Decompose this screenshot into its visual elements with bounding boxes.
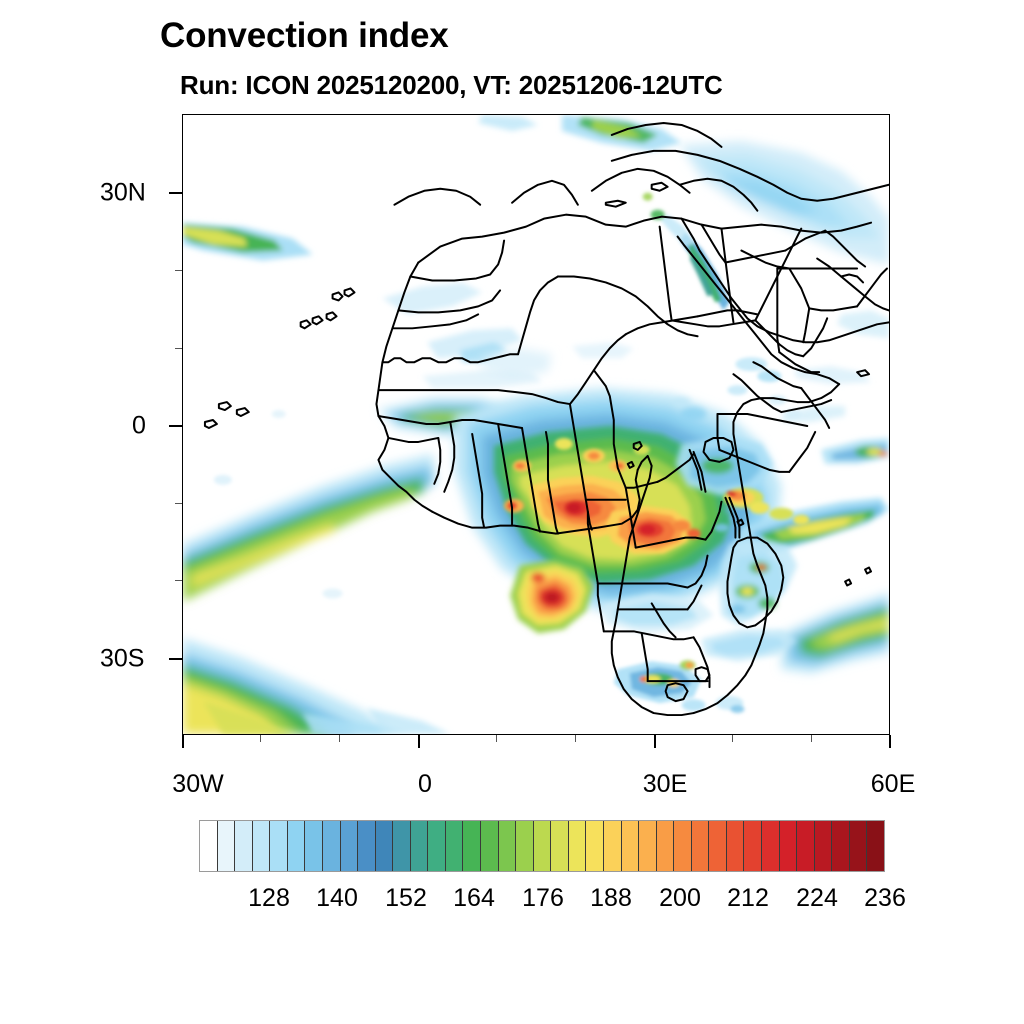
- colorbar-label: 164: [453, 884, 495, 913]
- y-tick-minor: [175, 270, 182, 271]
- colorbar-cell-5: [288, 821, 306, 871]
- colorbar-label: 188: [590, 884, 632, 913]
- colorbar[interactable]: [199, 820, 885, 872]
- colorbar-cell-1: [218, 821, 236, 871]
- colorbar-cell-20: [551, 821, 569, 871]
- colorbar-cell-25: [639, 821, 657, 871]
- colorbar-cell-38: [867, 821, 884, 871]
- colorbar-cell-10: [376, 821, 394, 871]
- x-axis-label-0: 0: [418, 770, 432, 799]
- x-tick-minor: [811, 735, 812, 742]
- x-tick-minor: [339, 735, 340, 742]
- colorbar-cell-2: [235, 821, 253, 871]
- colorbar-cell-8: [341, 821, 359, 871]
- colorbar-cell-32: [762, 821, 780, 871]
- colorbar-label: 224: [796, 884, 838, 913]
- colorbar-cell-37: [850, 821, 868, 871]
- colorbar-label: 128: [248, 884, 290, 913]
- colorbar-cell-34: [797, 821, 815, 871]
- x-axis-label-30e: 30E: [643, 770, 687, 799]
- colorbar-label: 200: [659, 884, 701, 913]
- colorbar-cell-36: [832, 821, 850, 871]
- page-title: Convection index: [160, 16, 449, 56]
- colorbar-cell-30: [727, 821, 745, 871]
- convection-index-map: [183, 115, 889, 734]
- colorbar-cell-27: [674, 821, 692, 871]
- colorbar-cell-12: [411, 821, 429, 871]
- y-tick-major: [169, 192, 182, 194]
- colorbar-cell-22: [586, 821, 604, 871]
- x-tick-minor: [496, 735, 497, 742]
- colorbar-cell-17: [499, 821, 517, 871]
- colorbar-cell-6: [305, 821, 323, 871]
- colorbar-cell-18: [516, 821, 534, 871]
- colorbar-label: 236: [864, 884, 906, 913]
- y-tick-minor: [175, 580, 182, 581]
- colorbar-cell-9: [358, 821, 376, 871]
- colorbar-cell-4: [270, 821, 288, 871]
- colorbar-cell-15: [463, 821, 481, 871]
- x-axis-label-30w: 30W: [172, 770, 223, 799]
- colorbar-cell-35: [815, 821, 833, 871]
- y-axis-label-0: 0: [132, 412, 146, 441]
- y-axis-label-30n: 30N: [100, 179, 146, 208]
- colorbar-cell-28: [692, 821, 710, 871]
- x-tick-minor: [260, 735, 261, 742]
- x-tick-minor: [575, 735, 576, 742]
- x-tick-major: [654, 735, 656, 748]
- colorbar-cell-29: [709, 821, 727, 871]
- colorbar-label: 176: [522, 884, 564, 913]
- y-tick-major: [169, 425, 182, 427]
- colorbar-label: 152: [385, 884, 427, 913]
- chart-page: Convection index Run: ICON 2025120200, V…: [0, 0, 1024, 1024]
- colorbar-cell-16: [481, 821, 499, 871]
- colorbar-cell-19: [534, 821, 552, 871]
- page-subtitle: Run: ICON 2025120200, VT: 20251206-12UTC: [180, 70, 723, 101]
- y-axis-label-30s: 30S: [100, 645, 144, 674]
- colorbar-cell-3: [253, 821, 271, 871]
- y-tick-minor: [175, 348, 182, 349]
- x-tick-minor: [732, 735, 733, 742]
- x-tick-major: [418, 735, 420, 748]
- y-tick-minor: [175, 503, 182, 504]
- colorbar-label: 140: [316, 884, 358, 913]
- colorbar-cell-33: [780, 821, 798, 871]
- x-tick-major: [182, 735, 184, 748]
- colorbar-label: 212: [727, 884, 769, 913]
- x-tick-major: [889, 735, 891, 748]
- map-plot-area: [182, 114, 890, 735]
- colorbar-cell-13: [428, 821, 446, 871]
- x-axis-label-60e: 60E: [871, 770, 915, 799]
- colorbar-cell-24: [622, 821, 640, 871]
- colorbar-cell-26: [657, 821, 675, 871]
- colorbar-cell-21: [569, 821, 587, 871]
- colorbar-cell-11: [393, 821, 411, 871]
- colorbar-cell-0: [200, 821, 218, 871]
- colorbar-cell-7: [323, 821, 341, 871]
- colorbar-cell-14: [446, 821, 464, 871]
- y-tick-major: [169, 658, 182, 660]
- colorbar-cell-31: [744, 821, 762, 871]
- colorbar-cell-23: [604, 821, 622, 871]
